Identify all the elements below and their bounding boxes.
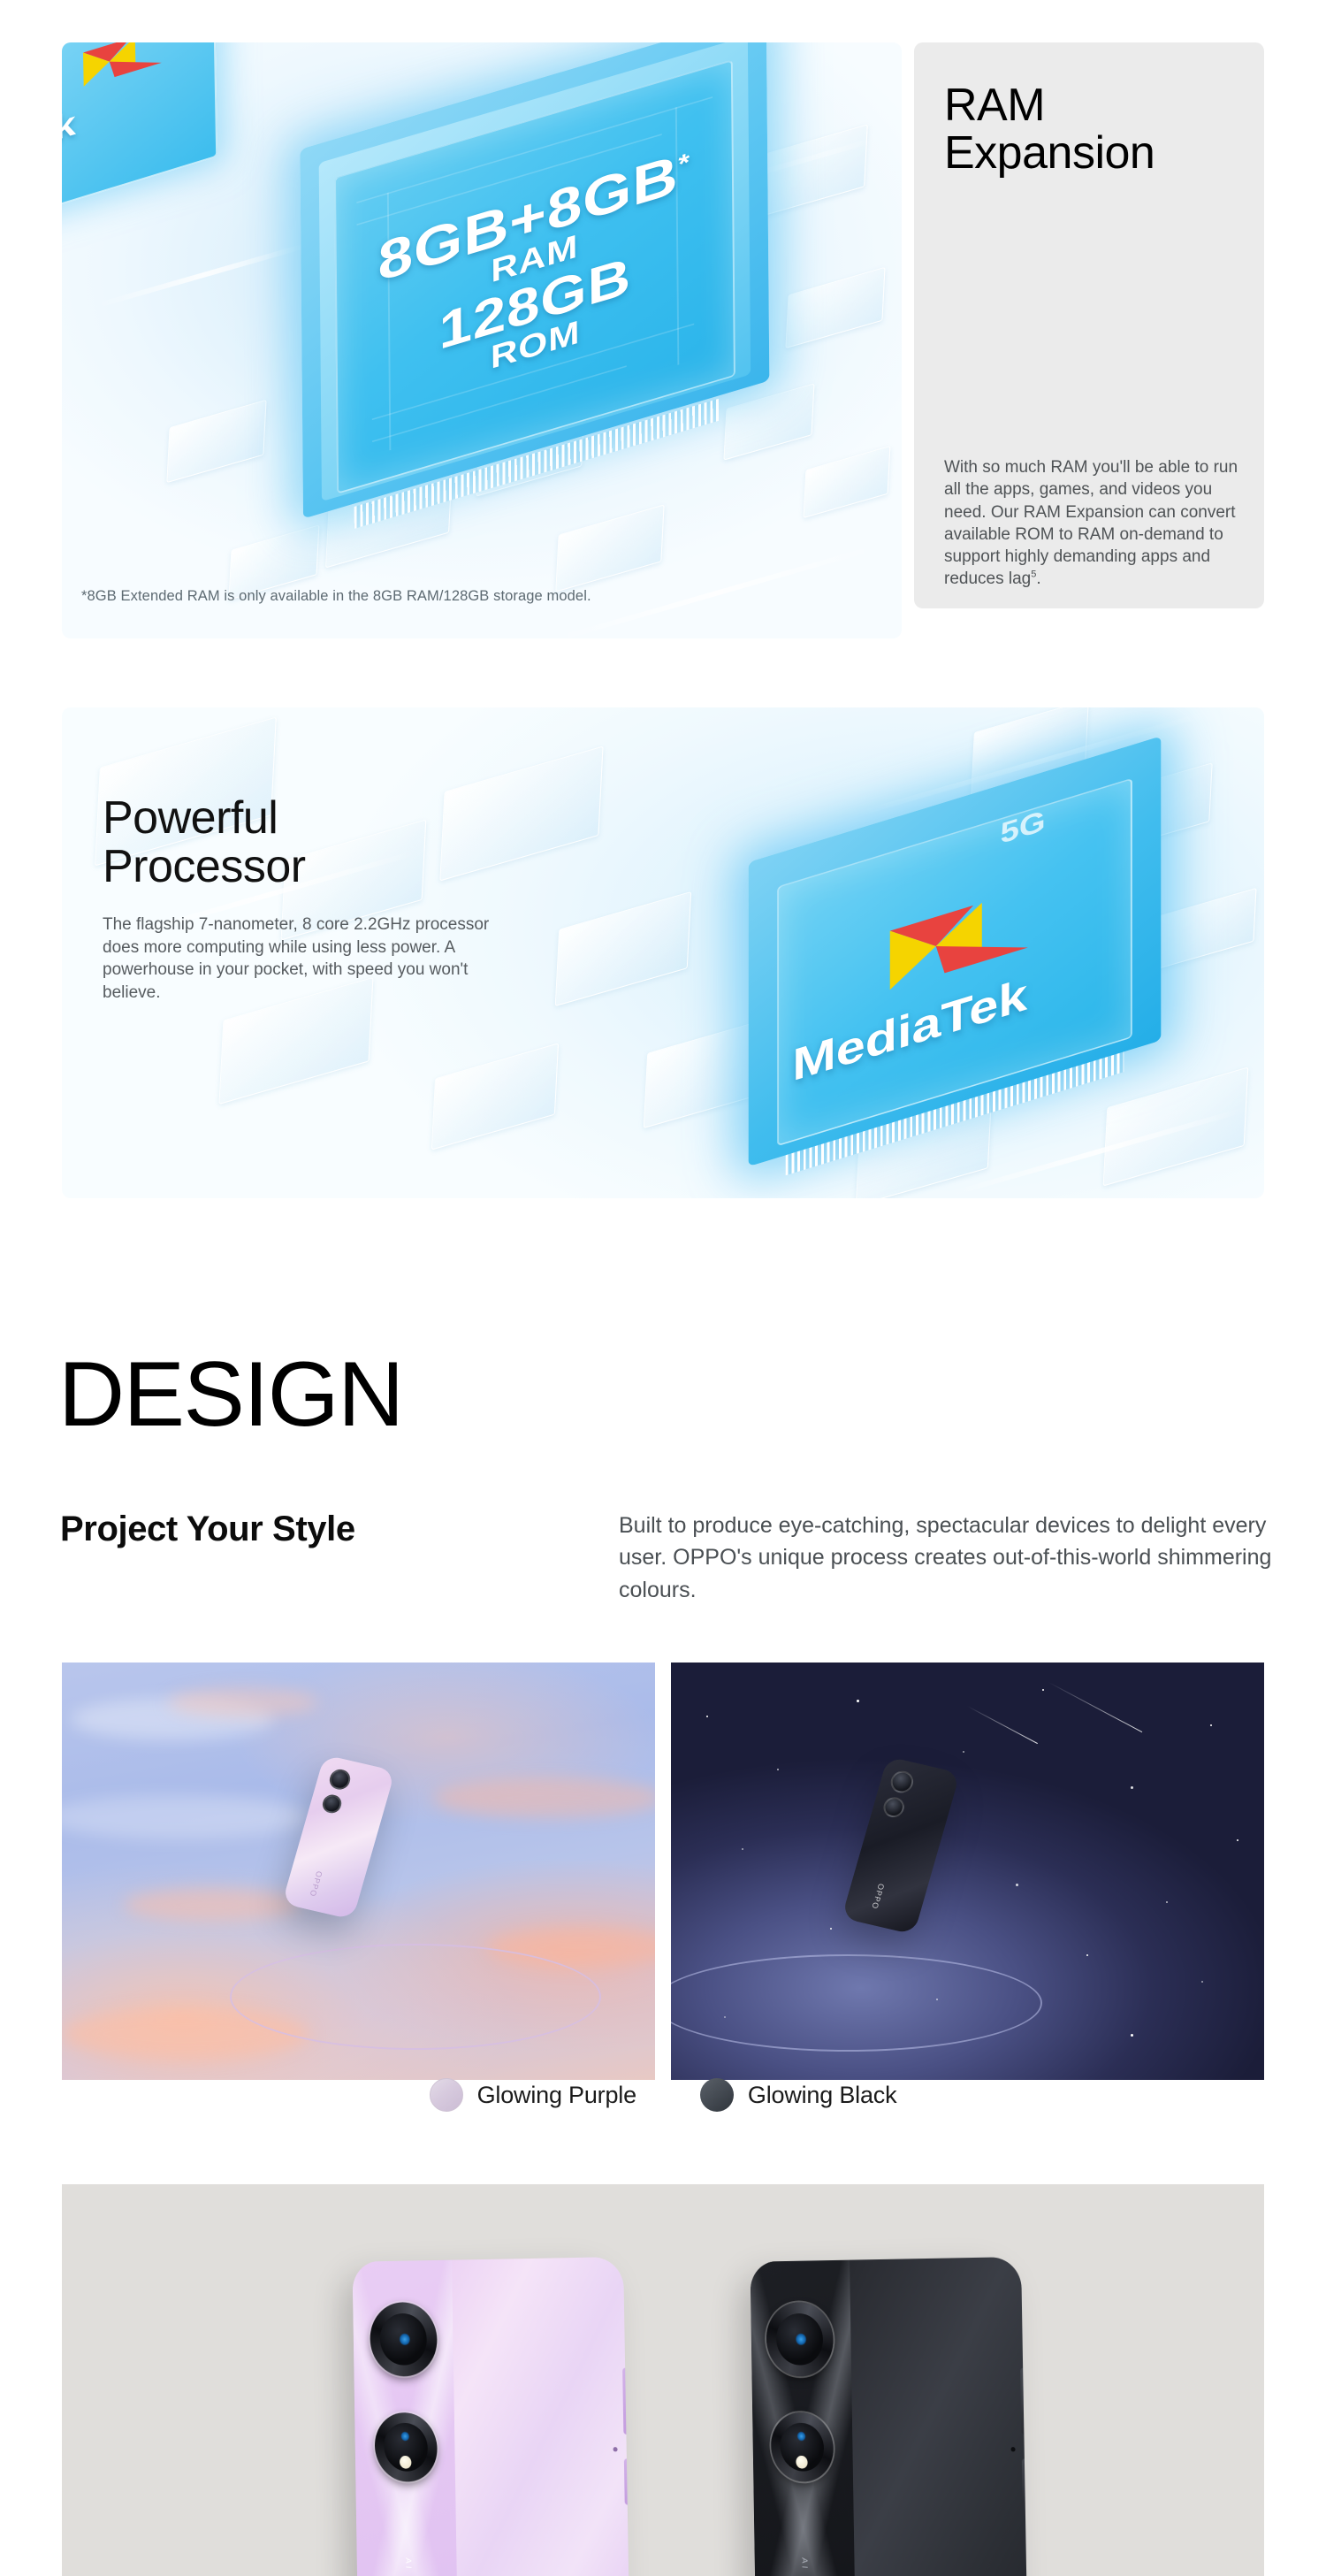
swatch-glowing-black[interactable]: Glowing Black bbox=[700, 2078, 896, 2112]
processor-body: The flagship 7-nanometer, 8 core 2.2GHz … bbox=[103, 913, 518, 1004]
glowing-black-photo: OPPO bbox=[671, 1663, 1264, 2080]
pcb-block bbox=[1156, 888, 1256, 969]
ram-chip: 8GB+8GB* RAM 128GB ROM bbox=[334, 59, 735, 493]
ram-footnote: *8GB Extended RAM is only available in t… bbox=[81, 588, 591, 605]
design-photo-row: OPPO OPPO bbox=[62, 1663, 1264, 2080]
swatch-glowing-purple[interactable]: Glowing Purple bbox=[430, 2078, 636, 2112]
mediatek-processor-chip: 5G MediaTek bbox=[777, 778, 1132, 1146]
mediatek-partial-text: Tek bbox=[62, 103, 76, 162]
colour-dot-icon[interactable] bbox=[430, 2078, 463, 2112]
chip-spec-label: 8GB+8GB* RAM 128GB ROM bbox=[337, 132, 733, 418]
mediatek-logo-icon bbox=[81, 42, 164, 91]
design-hero-bottom: AI CAMERA AI CAMERA bbox=[62, 2184, 1264, 2576]
ai-camera-label: AI CAMERA bbox=[403, 2557, 413, 2576]
floating-phone-black: OPPO bbox=[842, 1756, 960, 1935]
volume-button[interactable] bbox=[1020, 2368, 1027, 2435]
glowing-purple-photo: OPPO bbox=[62, 1663, 655, 2080]
ram-body-period: . bbox=[1036, 569, 1040, 588]
pedestal-ring bbox=[671, 1954, 1042, 2052]
colour-dot-icon[interactable] bbox=[700, 2078, 734, 2112]
oppo-logo: OPPO bbox=[870, 1883, 886, 1910]
swatch-label: Glowing Black bbox=[748, 2082, 896, 2109]
processor-text-block: Powerful Processor The flagship 7-nanome… bbox=[103, 794, 518, 1004]
hero-phone-black: AI CAMERA bbox=[751, 2257, 1032, 2576]
camera-flash bbox=[796, 2456, 807, 2469]
power-button[interactable] bbox=[624, 2458, 631, 2505]
pcb-block bbox=[166, 400, 266, 483]
floating-phone-purple: OPPO bbox=[282, 1754, 395, 1920]
meteor bbox=[967, 1706, 1038, 1744]
powerful-processor-section: Powerful Processor The flagship 7-nanome… bbox=[62, 707, 1264, 1198]
ram-chip-photo: Tek 8GB+8GB* RAM 128GB ROM bbox=[62, 42, 902, 638]
processor-title-line1: Powerful bbox=[103, 792, 278, 844]
camera-lens bbox=[327, 1768, 353, 1792]
camera-lens bbox=[881, 1795, 907, 1819]
chip-die: 5G MediaTek bbox=[777, 778, 1132, 1146]
processor-title: Powerful Processor bbox=[103, 794, 518, 891]
chip-ram-marker: * bbox=[678, 148, 690, 180]
power-button[interactable] bbox=[1022, 2458, 1029, 2505]
ram-expansion-card: RAM Expansion With so much RAM you'll be… bbox=[914, 42, 1264, 608]
ai-camera-label: AI CAMERA bbox=[800, 2557, 810, 2576]
pcb-block bbox=[555, 891, 692, 1006]
pcb-block bbox=[431, 1043, 559, 1150]
colour-swatch-legend: Glowing Purple Glowing Black bbox=[0, 2078, 1326, 2112]
design-subheading: Project Your Style bbox=[60, 1510, 355, 1549]
pcb-block bbox=[555, 504, 664, 592]
camera-lens bbox=[888, 1769, 916, 1795]
microphone-hole bbox=[613, 2447, 617, 2451]
meteor bbox=[1048, 1682, 1142, 1732]
design-body: Built to produce eye-catching, spectacul… bbox=[619, 1510, 1317, 1606]
processor-title-line2: Processor bbox=[103, 841, 306, 892]
microphone-hole bbox=[1010, 2447, 1015, 2451]
oppo-logo: OPPO bbox=[308, 1870, 324, 1898]
swatch-label: Glowing Purple bbox=[477, 2082, 636, 2109]
mediatek-chip-partial: Tek bbox=[62, 42, 217, 221]
camera-flash bbox=[400, 2456, 411, 2469]
ram-expansion-title: RAM Expansion bbox=[944, 81, 1234, 177]
volume-button[interactable] bbox=[622, 2368, 629, 2435]
ram-title-line2: Expansion bbox=[944, 127, 1155, 179]
pedestal-ring bbox=[230, 1944, 601, 2050]
design-heading: DESIGN bbox=[58, 1351, 403, 1439]
camera-lens bbox=[320, 1792, 343, 1815]
circuit-trace bbox=[97, 242, 309, 309]
pcb-block bbox=[804, 446, 891, 518]
ram-expansion-body: With so much RAM you'll be able to run a… bbox=[944, 456, 1246, 591]
ram-body-text: With so much RAM you'll be able to run a… bbox=[944, 458, 1238, 588]
ram-title-line1: RAM bbox=[944, 80, 1045, 131]
pcb-block bbox=[723, 383, 814, 461]
pcb-block bbox=[785, 267, 885, 348]
hero-phone-purple: AI CAMERA bbox=[353, 2257, 634, 2576]
ram-expansion-section: Tek 8GB+8GB* RAM 128GB ROM bbox=[62, 42, 1264, 638]
